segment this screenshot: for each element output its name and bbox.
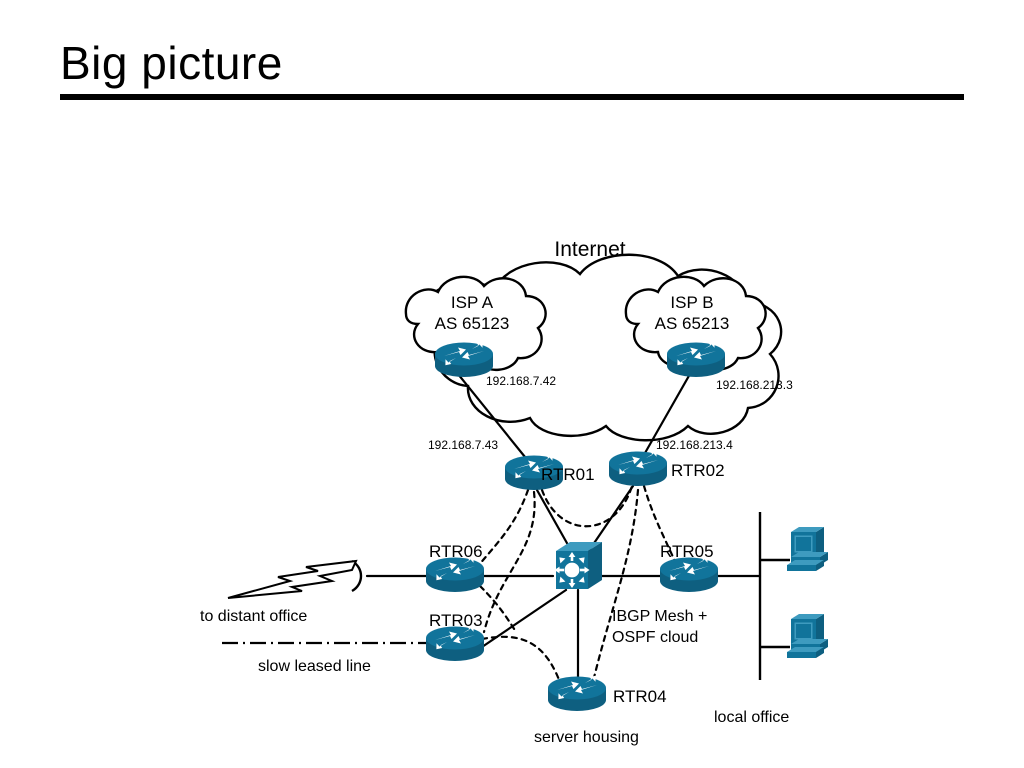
ibgp-rtr05-rtr04 — [482, 637, 562, 688]
ip-label-isp-a-link: 192.168.7.42 — [486, 375, 556, 389]
annotation-slow-leased-line: slow leased line — [258, 658, 371, 676]
device-pc-bottom[interactable] — [787, 614, 828, 658]
title-block: Big picture — [60, 34, 964, 100]
ibgp-rtr01-rtr05 — [484, 492, 535, 632]
cloud-label-isp-b-name: ISP B — [644, 293, 740, 313]
annotation-local-office: local office — [714, 709, 789, 727]
page-title: Big picture — [60, 34, 964, 92]
device-label-rtr06: RTR06 — [429, 542, 483, 562]
device-rtr04[interactable] — [548, 676, 606, 711]
device-label-rtr03: RTR05 — [660, 542, 714, 562]
annotation-ibgp-mesh-line2: OSPF cloud — [612, 627, 698, 648]
device-pc-top[interactable] — [787, 527, 828, 571]
annotation-distant-office: to distant office — [200, 608, 307, 626]
network-diagram: Internet ISP A AS 65123 ISP B AS 65213 1… — [0, 120, 1024, 768]
device-isp-b-router[interactable] — [667, 342, 725, 377]
ip-label-isp-b-link: 192.168.213.3 — [716, 379, 793, 393]
cloud-label-isp-a-asn: AS 65123 — [424, 314, 520, 334]
device-rtr05[interactable] — [426, 626, 484, 661]
title-underline-rule — [60, 94, 964, 100]
device-rtr02[interactable] — [609, 451, 667, 486]
cloud-label-internet: Internet — [530, 238, 650, 262]
device-rtr03[interactable] — [660, 557, 718, 592]
annotation-server-housing: server housing — [534, 729, 639, 747]
ibgp-rtr02-rtr04 — [592, 490, 638, 686]
cloud-label-isp-a-name: ISP A — [424, 293, 520, 313]
diagram-vector-layer — [0, 120, 1024, 768]
annotation-ibgp-mesh-line1: IBGP Mesh + — [612, 606, 707, 627]
device-label-rtr04: RTR04 — [613, 687, 667, 707]
ip-label-rtr01-link: 192.168.7.43 — [428, 439, 498, 453]
ip-label-rtr02-link: 192.168.213.4 — [656, 439, 733, 453]
device-label-rtr02: RTR02 — [671, 461, 725, 481]
device-core-switch[interactable] — [555, 542, 603, 589]
slide-canvas: Big picture — [0, 0, 1024, 768]
lightning-bolt-icon — [228, 561, 356, 598]
local-office-bus — [760, 512, 790, 680]
device-label-rtr05: RTR03 — [429, 611, 483, 631]
device-label-rtr01: RTR01 — [541, 465, 595, 485]
link-rtr05-switch — [482, 590, 566, 647]
cloud-label-isp-b-asn: AS 65213 — [644, 314, 740, 334]
device-isp-a-router[interactable] — [435, 342, 493, 377]
device-rtr06[interactable] — [426, 557, 484, 592]
